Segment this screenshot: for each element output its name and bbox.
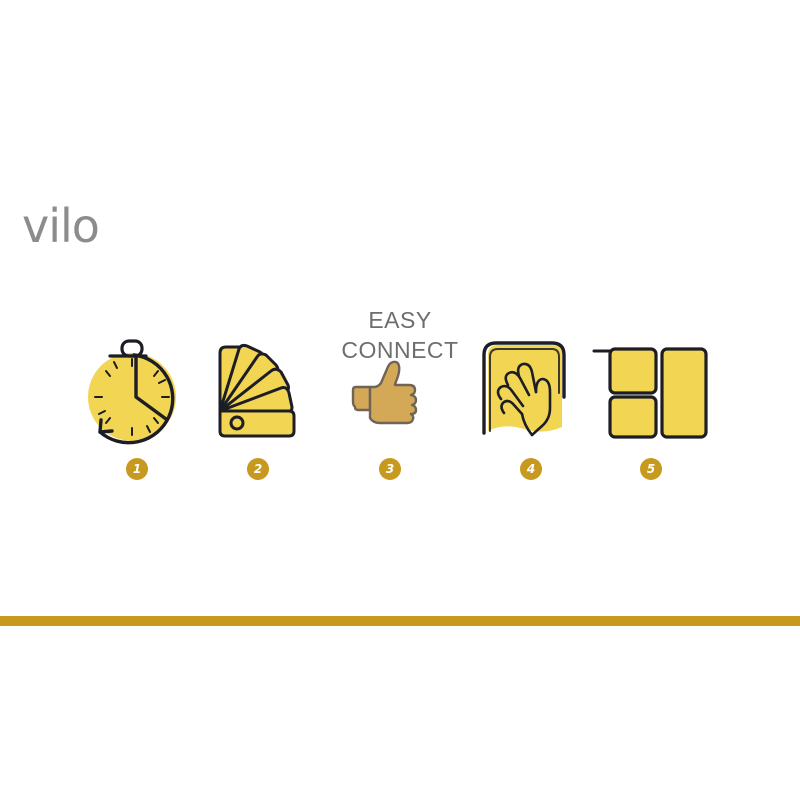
step-badge-1: 1 [126, 458, 148, 480]
step-badge-5: 5 [640, 458, 662, 480]
step-item-5[interactable]: 5 [586, 295, 716, 495]
step-badge-3: 3 [379, 458, 401, 480]
bottom-gold-rule [0, 616, 800, 626]
color-swatch-fan-icon [193, 335, 323, 447]
vilo-logo-icon: vilo [22, 198, 142, 250]
logo-wordmark: vilo [22, 199, 99, 250]
step-item-4[interactable]: 4 [466, 295, 596, 495]
stopwatch-icon [72, 335, 202, 447]
slide-canvas: { "brand": { "logo_text": "vilo", "logo_… [0, 0, 800, 800]
step-art-1 [72, 295, 202, 455]
panel-layout-icon [586, 335, 716, 447]
step-badge-4: 4 [520, 458, 542, 480]
step-art-5 [586, 295, 716, 455]
step-badge-2: 2 [247, 458, 269, 480]
easy-connect-caption: EASY CONNECT [325, 305, 475, 365]
step-art-2 [193, 295, 323, 455]
step-art-4 [466, 295, 596, 455]
caption-line-1: EASY [325, 305, 475, 335]
hand-wipe-cloth-icon [466, 335, 596, 447]
steps-row: 1 2 [0, 295, 800, 495]
step-item-1[interactable]: 1 [72, 295, 202, 495]
caption-line-2: CONNECT [325, 335, 475, 365]
brand-logo: vilo [22, 198, 142, 250]
step-item-2[interactable]: 2 [193, 295, 323, 495]
